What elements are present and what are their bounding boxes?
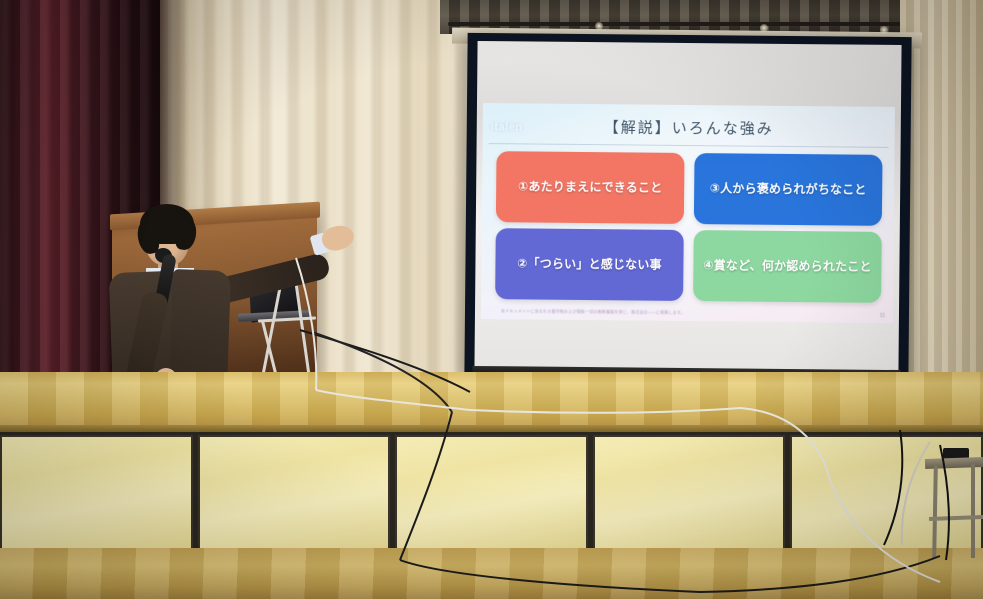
stage-panel-2 — [198, 435, 391, 550]
presenter-hair-side-right — [174, 217, 198, 251]
projection-screen: italen 【解説】いろんな強み ①あたりまえにできること ③人から褒められが… — [464, 33, 911, 382]
gymnasium-floor — [0, 548, 983, 599]
auditorium-presentation-photo: italen 【解説】いろんな強み ①あたりまえにできること ③人から褒められが… — [0, 0, 983, 599]
stage-floor — [0, 372, 983, 430]
ceiling-light-3 — [880, 26, 888, 34]
slide-footer-note: 本ドキュメントに含まれる著作物および情報一切の無断複製を禁じ、株式会社○○○に帰… — [501, 308, 841, 317]
ceiling-light-1 — [595, 22, 603, 30]
slide-page-number: 11 — [880, 313, 885, 319]
ceiling-light-2 — [760, 24, 768, 32]
title-divider — [489, 143, 889, 148]
equipment-table — [925, 448, 983, 548]
strength-cell-1: ①あたりまえにできること — [496, 151, 685, 224]
strength-cell-4: ④賞など、何か認められたこと — [693, 230, 882, 303]
right-wall-pillar — [900, 0, 983, 430]
stage-panel-4 — [593, 435, 786, 550]
stage-panel-3 — [395, 435, 588, 550]
stage-panel-1 — [0, 435, 193, 550]
equipment-table-leg-left — [932, 466, 938, 558]
projected-slide: italen 【解説】いろんな強み ①あたりまえにできること ③人から褒められが… — [481, 103, 895, 323]
strength-cell-2: ②「つらい」と感じない事 — [495, 228, 684, 301]
screen-surface: italen 【解説】いろんな強み ①あたりまえにできること ③人から褒められが… — [474, 41, 901, 372]
equipment-table-leg-right — [971, 464, 975, 558]
strength-cell-3: ③人から褒められがちなこと — [694, 153, 883, 226]
slide-title: 【解説】いろんな強み — [483, 115, 895, 140]
strengths-grid: ①あたりまえにできること ③人から褒められがちなこと ②「つらい」と感じない事 … — [495, 151, 882, 303]
stage-front-panels — [0, 432, 983, 550]
